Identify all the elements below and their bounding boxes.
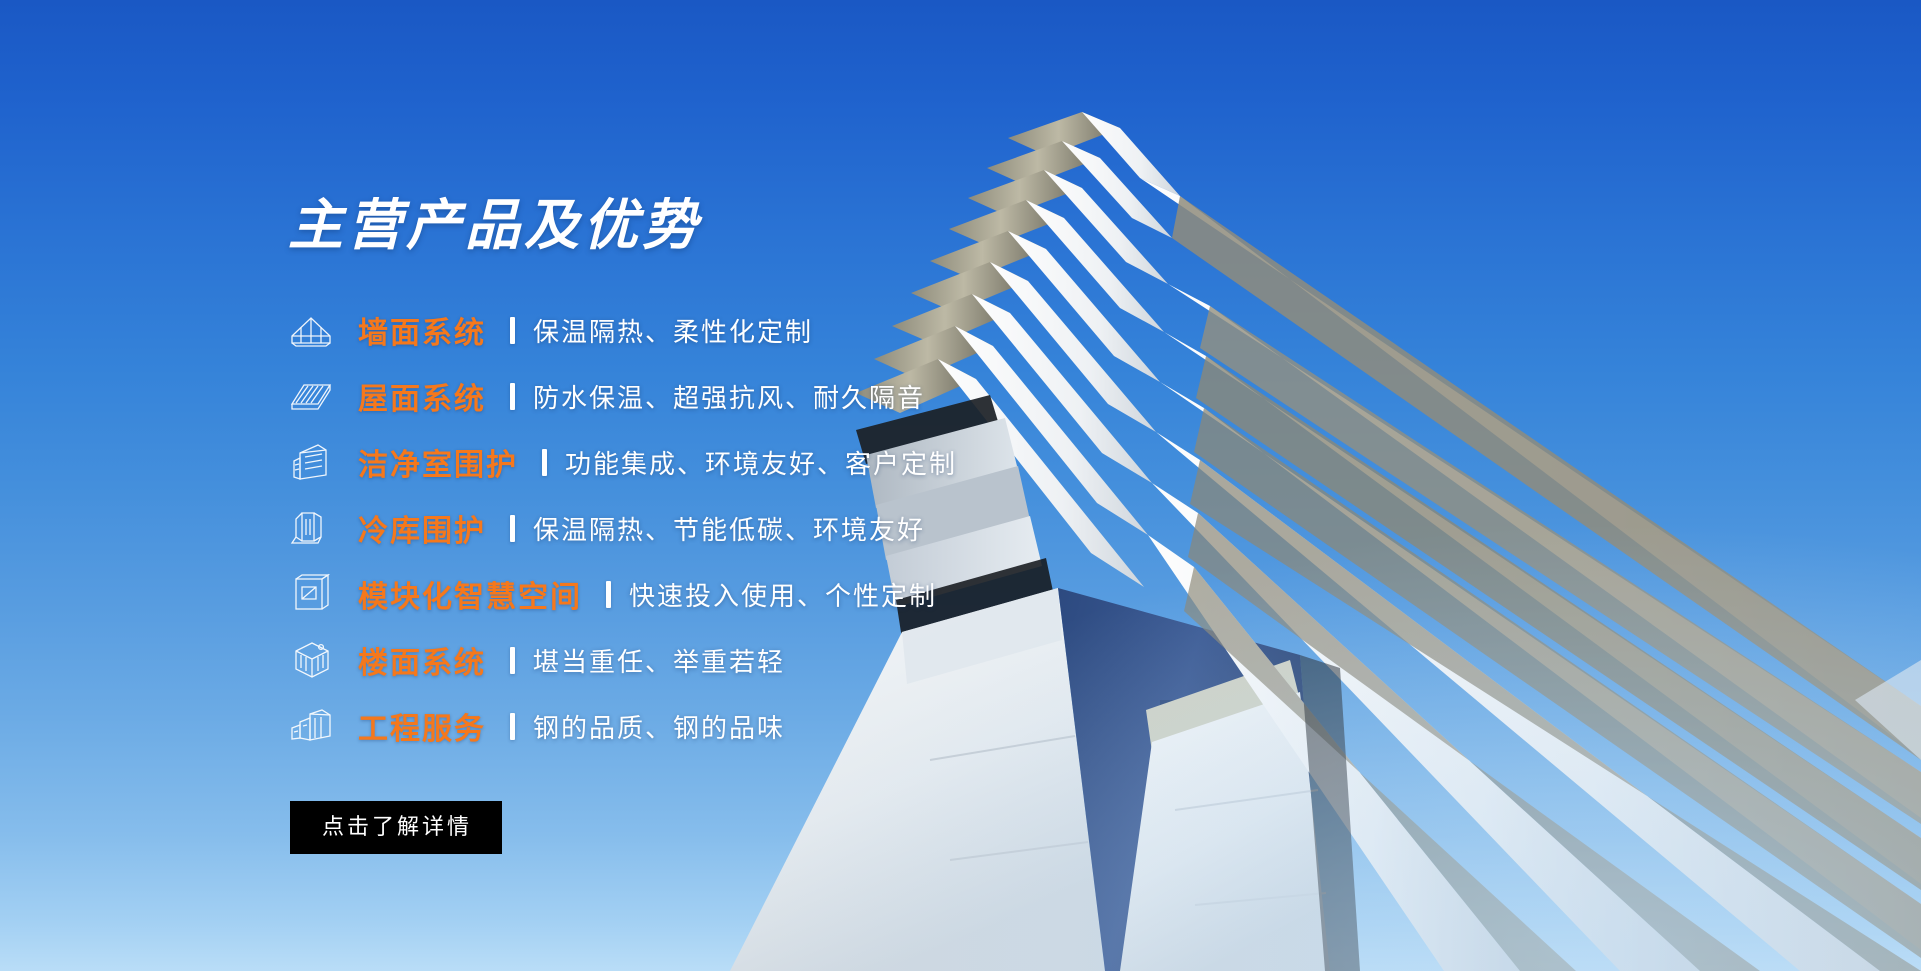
modular-cube-icon	[288, 570, 344, 618]
factory-service-icon	[288, 702, 344, 750]
product-list: 墙面系统 保温隔热、柔性化定制 屋面系统 防水保温、超强抗风、耐久隔音	[288, 297, 1188, 759]
product-desc: 保温隔热、柔性化定制	[533, 312, 813, 349]
product-row-modular-space[interactable]: 模块化智慧空间 快速投入使用、个性定制	[288, 561, 1188, 627]
page-title: 主营产品及优势	[288, 198, 1188, 253]
banner-content: 主营产品及优势 墙面系统 保温隔热、柔性化定制	[288, 198, 1188, 854]
product-row-roof-system[interactable]: 屋面系统 防水保温、超强抗风、耐久隔音	[288, 363, 1188, 429]
product-row-wall-system[interactable]: 墙面系统 保温隔热、柔性化定制	[288, 297, 1188, 363]
product-name: 工程服务	[358, 704, 486, 748]
separator-bar	[510, 515, 515, 542]
product-desc: 快速投入使用、个性定制	[629, 576, 937, 613]
product-desc: 功能集成、环境友好、客户定制	[565, 444, 957, 481]
learn-more-button[interactable]: 点击了解详情	[290, 801, 502, 854]
product-name: 洁净室围护	[358, 440, 518, 484]
separator-bar	[606, 581, 611, 608]
product-desc: 保温隔热、节能低碳、环境友好	[533, 510, 925, 547]
separator-bar	[542, 449, 547, 476]
roof-panel-icon	[288, 372, 344, 420]
separator-bar	[510, 713, 515, 740]
product-desc: 钢的品质、钢的品味	[533, 708, 785, 745]
product-row-cold-storage[interactable]: 冷库围护 保温隔热、节能低碳、环境友好	[288, 495, 1188, 561]
product-row-engineering-service[interactable]: 工程服务 钢的品质、钢的品味	[288, 693, 1188, 759]
hero-banner: 主营产品及优势 墙面系统 保温隔热、柔性化定制	[0, 0, 1921, 971]
product-desc: 防水保温、超强抗风、耐久隔音	[533, 378, 925, 415]
product-name: 冷库围护	[358, 506, 486, 550]
separator-bar	[510, 647, 515, 674]
cold-storage-icon	[288, 504, 344, 552]
product-name: 墙面系统	[358, 308, 486, 352]
product-row-cleanroom[interactable]: 洁净室围护 功能集成、环境友好、客户定制	[288, 429, 1188, 495]
separator-bar	[510, 383, 515, 410]
product-name: 模块化智慧空间	[358, 572, 582, 616]
separator-bar	[510, 317, 515, 344]
product-name: 屋面系统	[358, 374, 486, 418]
floor-deck-icon	[288, 636, 344, 684]
product-desc: 堪当重任、举重若轻	[533, 642, 785, 679]
product-name: 楼面系统	[358, 638, 486, 682]
product-row-floor-system[interactable]: 楼面系统 堪当重任、举重若轻	[288, 627, 1188, 693]
cleanroom-building-icon	[288, 438, 344, 486]
wall-panel-icon	[288, 306, 344, 354]
